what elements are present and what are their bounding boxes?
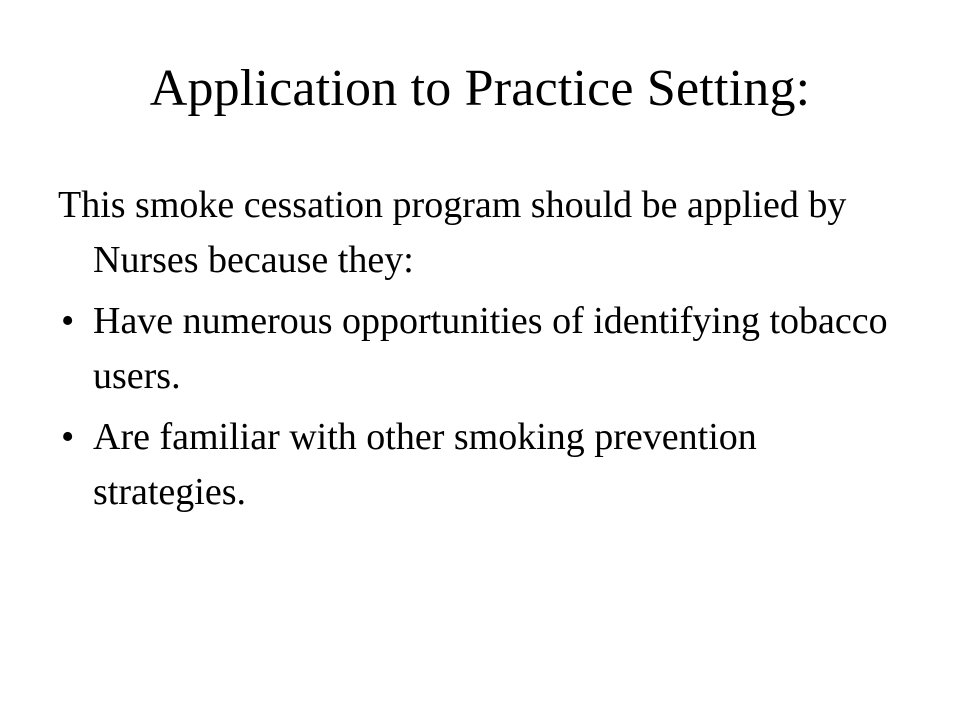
slide-title: Application to Practice Setting: [0,58,960,120]
bullet-point-icon: • [61,294,85,349]
presentation-slide: Application to Practice Setting: This sm… [0,0,960,720]
list-item-label: Have numerous opportunities of identifyi… [93,294,906,404]
intro-paragraph: This smoke cessation program should be a… [58,178,906,288]
list-item-label: Are familiar with other smoking preventi… [93,410,906,520]
bullet-point-icon: • [61,410,85,465]
list-item: • Have numerous opportunities of identif… [58,294,906,404]
list-item: • Are familiar with other smoking preven… [58,410,906,520]
bullet-list: • Have numerous opportunities of identif… [58,294,906,520]
slide-body: This smoke cessation program should be a… [58,178,906,526]
